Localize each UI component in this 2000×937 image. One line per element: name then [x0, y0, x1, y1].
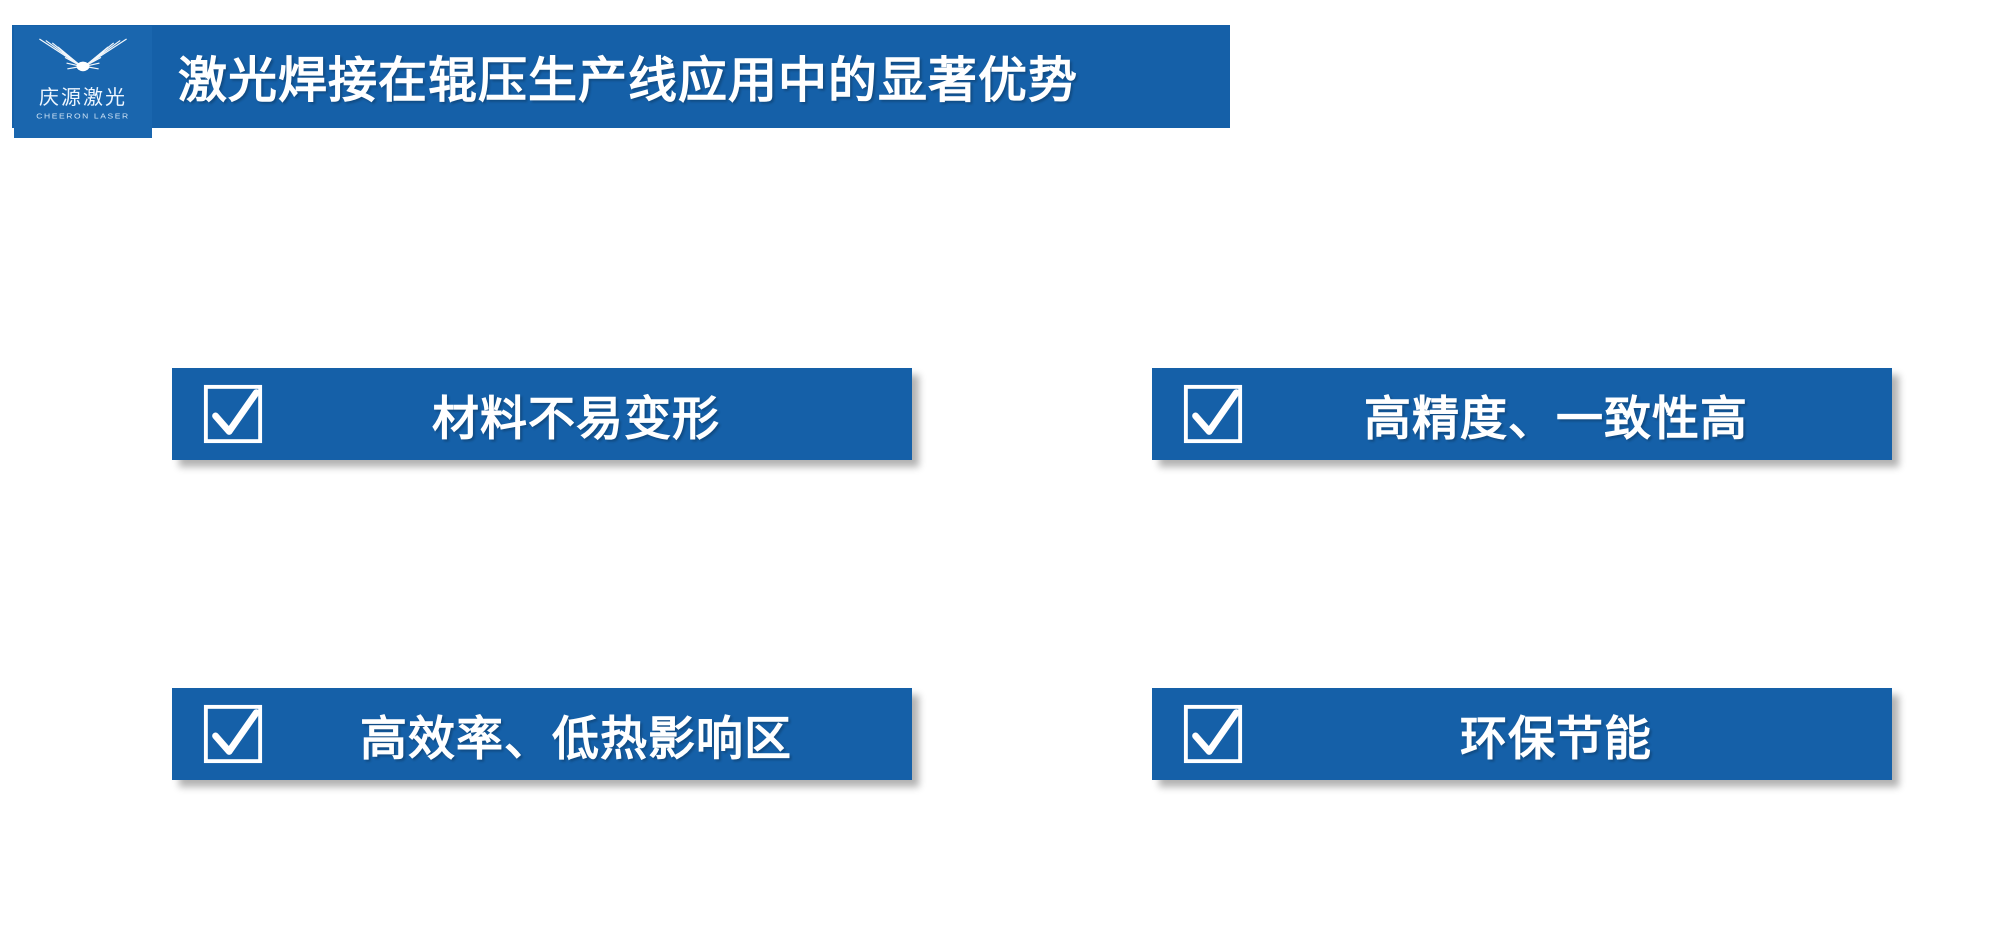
- advantage-card-3[interactable]: 高效率、低热影响区: [172, 688, 912, 780]
- company-logo: 庆源激光 CHEERON LASER: [14, 26, 152, 138]
- advantage-card-label: 高效率、低热影响区: [264, 700, 912, 769]
- advantage-card-2[interactable]: 高精度、一致性高: [1152, 368, 1892, 460]
- checked-checkbox-icon: [202, 703, 264, 765]
- advantage-card-label: 材料不易变形: [264, 380, 912, 449]
- checked-checkbox-icon: [1182, 383, 1244, 445]
- checked-checkbox-icon: [202, 383, 264, 445]
- logo-company-name-cn: 庆源激光: [39, 87, 127, 107]
- slide-canvas: 庆源激光 CHEERON LASER 激光焊接在辊压生产线应用中的显著优势 材料…: [0, 0, 2000, 937]
- advantage-card-4[interactable]: 环保节能: [1152, 688, 1892, 780]
- advantage-card-label: 环保节能: [1244, 700, 1892, 769]
- advantage-card-1[interactable]: 材料不易变形: [172, 368, 912, 460]
- laser-wings-logo-icon: [35, 34, 131, 86]
- checked-checkbox-icon: [1182, 703, 1244, 765]
- page-title: 激光焊接在辊压生产线应用中的显著优势: [178, 25, 1078, 128]
- advantage-card-label: 高精度、一致性高: [1244, 380, 1892, 449]
- logo-company-name-en: CHEERON LASER: [36, 113, 130, 120]
